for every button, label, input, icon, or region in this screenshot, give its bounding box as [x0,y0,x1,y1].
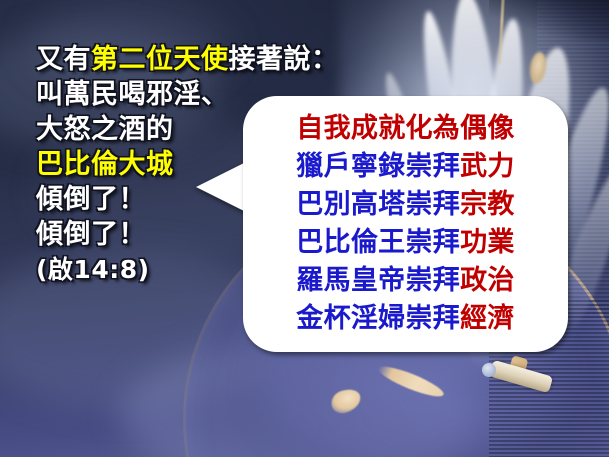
callout-row: 金杯淫婦崇拜經濟 [243,300,568,338]
callout-row-subject: 金杯淫婦崇拜 [296,303,460,334]
callout-row-subject: 巴別高塔崇拜 [296,189,460,220]
slide-canvas: 又有第二位天使接著說： 叫萬民喝邪淫、 大怒之酒的 巴比倫大城 傾倒了！ 傾倒了… [0,0,609,457]
callout-row-subject: 獵戶寧錄崇拜 [296,151,460,182]
verse-seg-plain: 大怒之酒的 [36,114,174,145]
verse-line-1: 又有第二位天使接著說： [36,42,266,77]
verse-seg-highlight: 巴比倫大城 [36,149,174,180]
callout-row-object: 經濟 [460,303,515,334]
callout-row: 巴比倫王崇拜功業 [243,224,568,262]
callout-body: 自我成就化為偶像 獵戶寧錄崇拜武力 巴別高塔崇拜宗教 巴比倫王崇拜功業 羅馬皇帝… [243,96,568,352]
callout-row-object: 功業 [460,227,515,258]
scroll-knob [482,363,496,377]
verse-seg-highlight: 第二位天使 [91,44,229,75]
callout-row-object: 宗教 [460,189,515,220]
callout-row: 獵戶寧錄崇拜武力 [243,148,568,186]
callout-row-object: 武力 [460,151,515,182]
verse-seg-plain: 傾倒了！ [36,184,146,215]
callout-row-subject: 巴比倫王崇拜 [296,227,460,258]
callout-row: 羅馬皇帝崇拜政治 [243,262,568,300]
callout-bubble: 自我成就化為偶像 獵戶寧錄崇拜武力 巴別高塔崇拜宗教 巴比倫王崇拜功業 羅馬皇帝… [196,96,568,352]
callout-heading: 自我成就化為偶像 [243,110,568,148]
verse-seg-plain: 又有 [36,44,91,75]
verse-seg-plain: 接著說： [229,44,339,75]
callout-row-subject: 羅馬皇帝崇拜 [296,265,460,296]
verse-seg-plain: 傾倒了！ [36,219,146,250]
callout-row-object: 政治 [460,265,515,296]
callout-text-block: 自我成就化為偶像 獵戶寧錄崇拜武力 巴別高塔崇拜宗教 巴比倫王崇拜功業 羅馬皇帝… [243,110,568,338]
corner-shadow [489,0,609,40]
verse-seg-plain: (啟14:8) [36,255,150,284]
callout-row: 巴別高塔崇拜宗教 [243,186,568,224]
callout-heading-text: 自我成就化為偶像 [296,113,514,144]
